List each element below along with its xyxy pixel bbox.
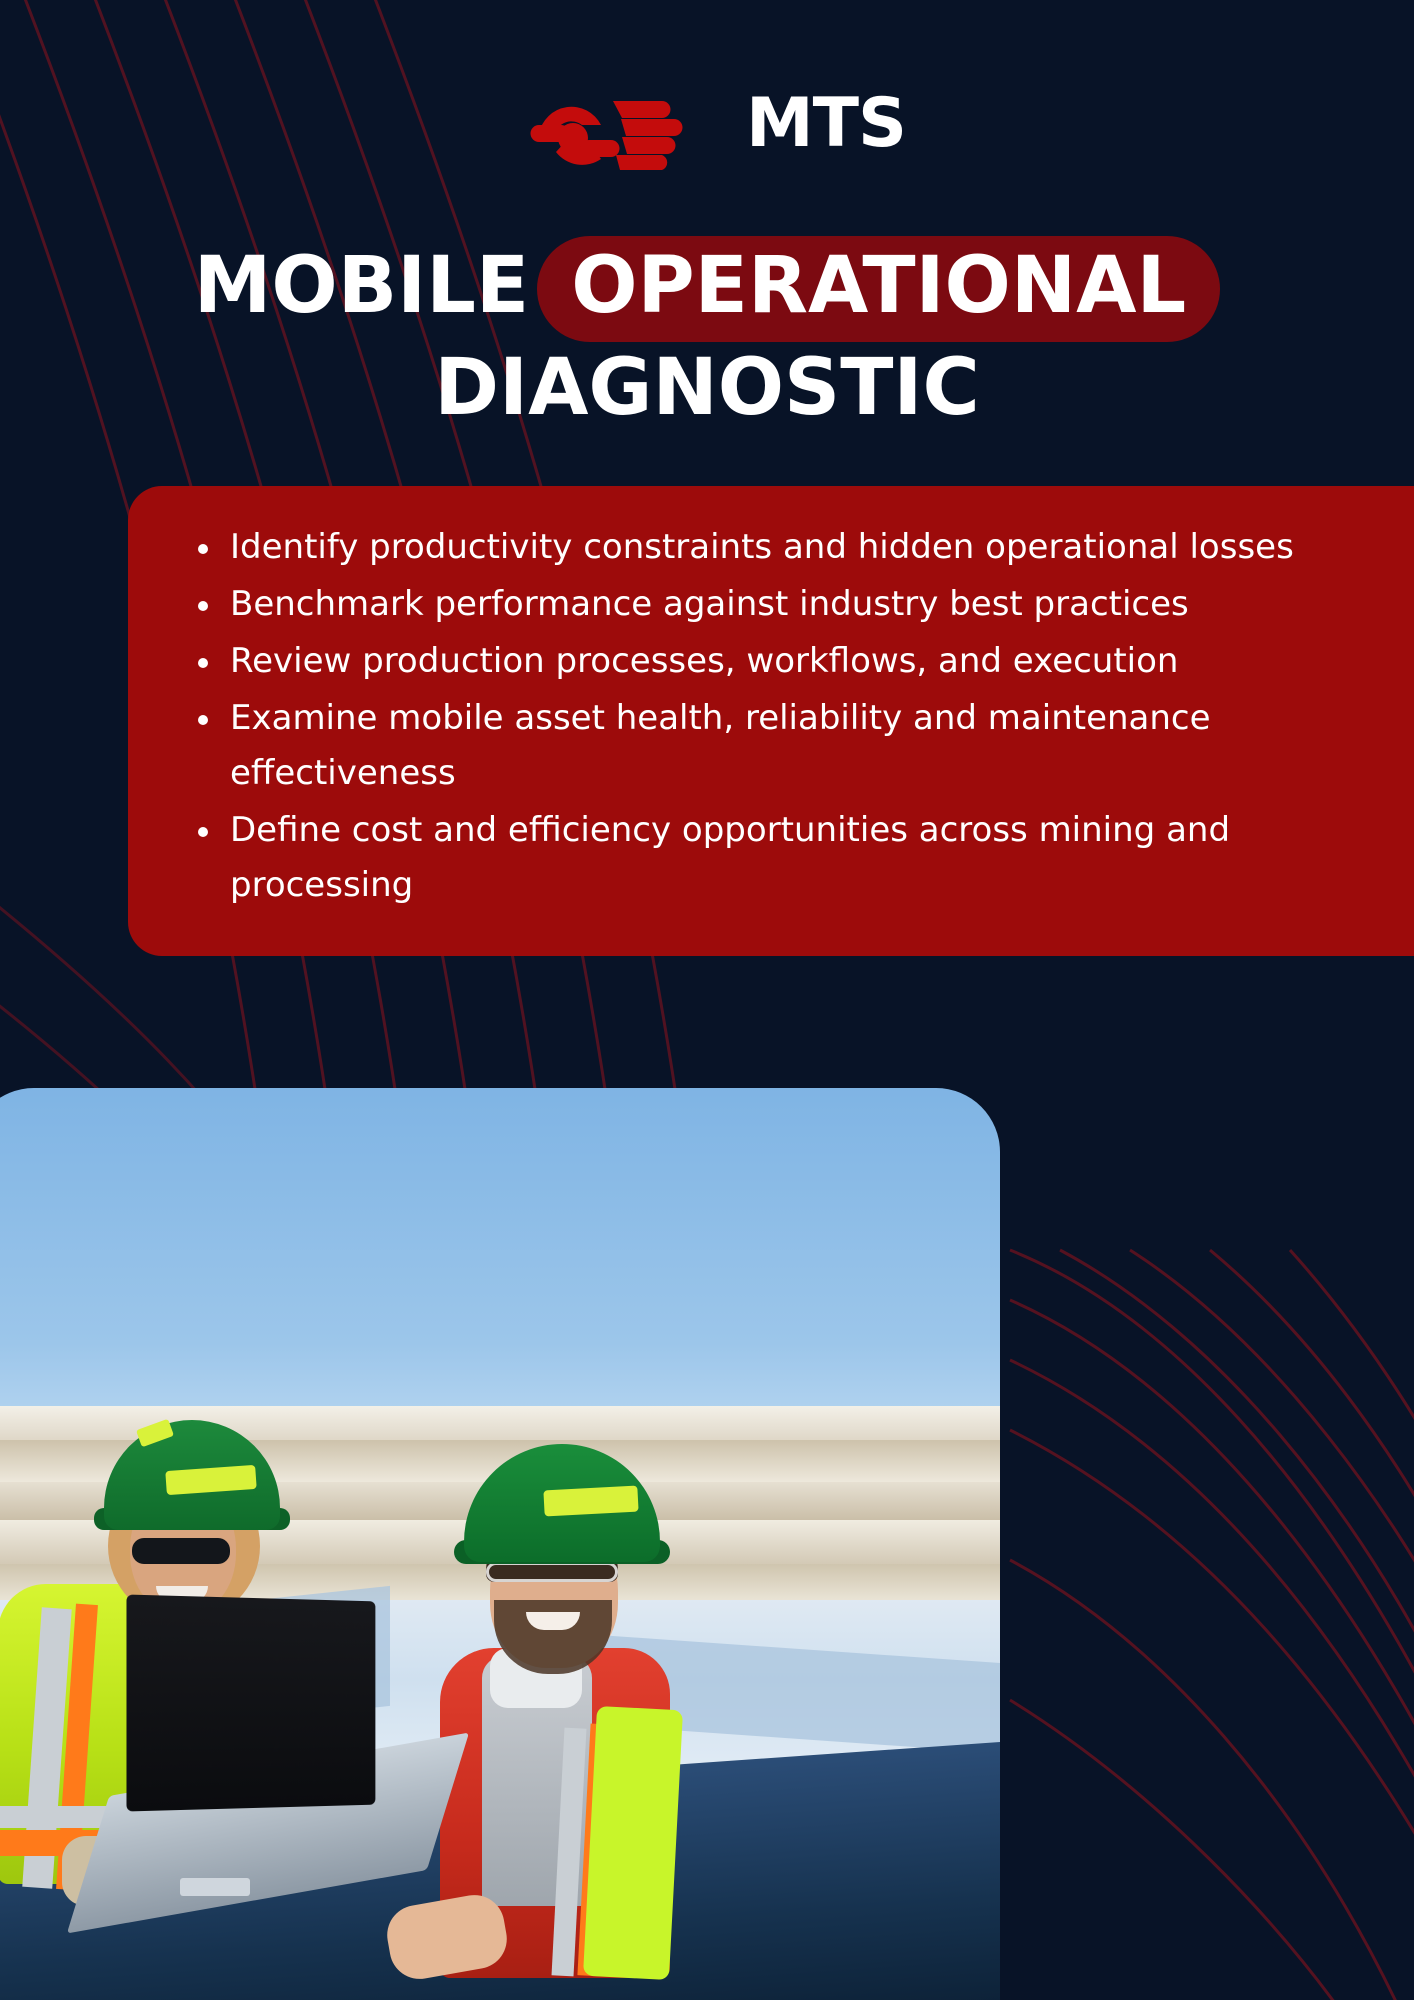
worker-left-sunglasses: [132, 1538, 230, 1564]
headline-highlight-pill: OPERATIONAL: [537, 236, 1220, 342]
list-item: Examine mobile asset health, reliability…: [172, 691, 1370, 801]
page-title: MOBILEOPERATIONAL DIAGNOSTIC: [0, 236, 1414, 434]
laptop-hinge: [180, 1878, 250, 1896]
worker-right-helmet-tape: [543, 1486, 638, 1517]
headline-line-2: DIAGNOSTIC: [0, 342, 1414, 434]
headline-plain: MOBILE: [194, 241, 529, 331]
list-item: Benchmark performance against industry b…: [172, 577, 1370, 632]
brand-logo: MTS: [0, 78, 1414, 170]
benefits-panel: Identify productivity constraints and hi…: [128, 486, 1414, 956]
headline-line-1: MOBILEOPERATIONAL: [0, 236, 1414, 342]
benefits-list: Identify productivity constraints and hi…: [172, 520, 1370, 914]
list-item: Define cost and efficiency opportunities…: [172, 803, 1370, 913]
hero-photo-scene: [0, 1088, 1000, 2000]
laptop-screen: [126, 1594, 375, 1811]
worker-right-hi-vis-vest: [583, 1706, 683, 1980]
worker-right-safety-glasses: [486, 1562, 618, 1582]
list-item: Review production processes, workflows, …: [172, 634, 1370, 689]
brand-name: MTS: [746, 90, 906, 158]
mts-speed-gauge-icon: [508, 78, 724, 170]
hero-photo: [0, 1088, 1000, 2000]
poster-canvas: MTS MOBILEOPERATIONAL DIAGNOSTIC Identif…: [0, 0, 1414, 2000]
list-item: Identify productivity constraints and hi…: [172, 520, 1370, 575]
